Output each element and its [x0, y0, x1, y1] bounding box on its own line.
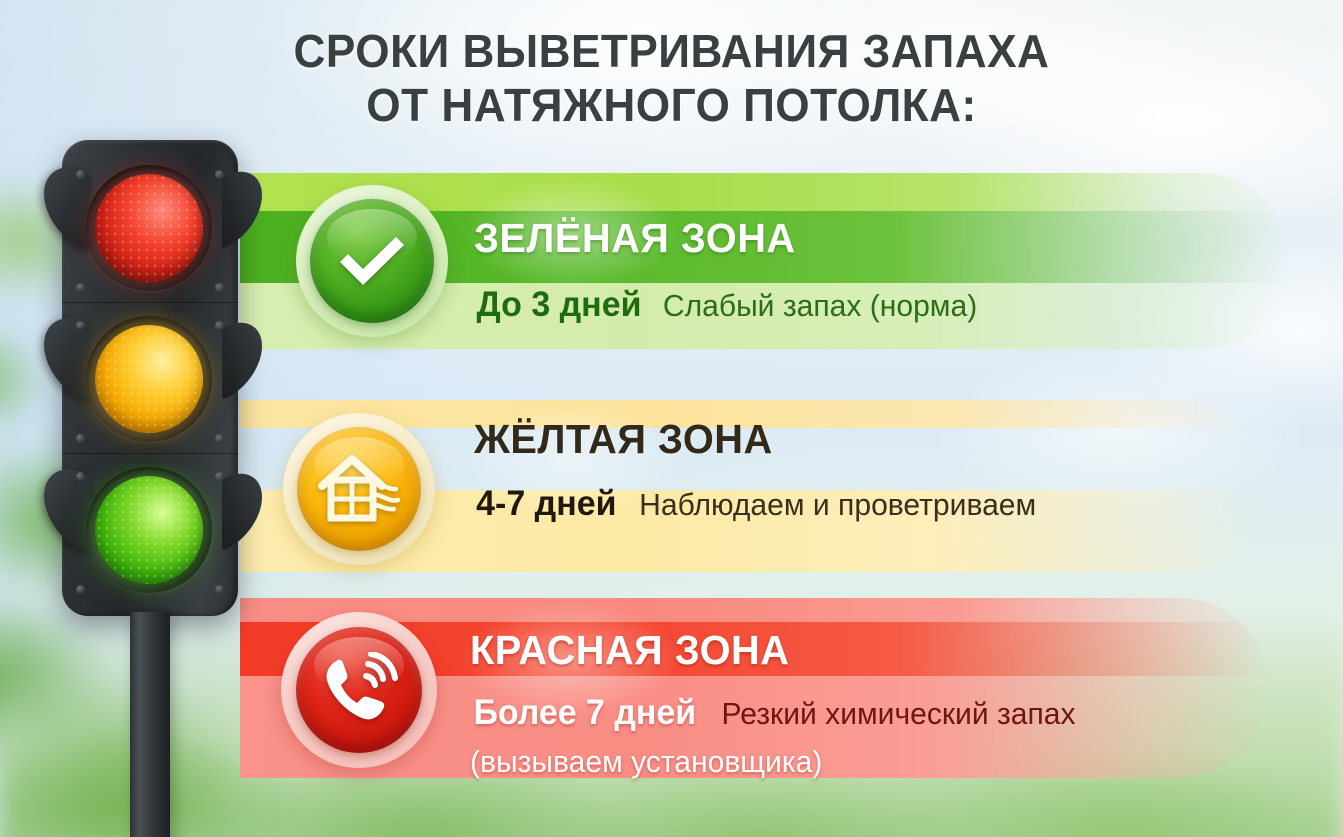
zone-icon-badge-red — [281, 612, 437, 768]
zone-detail-red: Более 7 днейРезкий химический запах — [470, 692, 1081, 741]
zone-days-red: Более 7 дней — [473, 692, 696, 734]
visor-yellow-icon — [44, 306, 90, 403]
screw-icon — [215, 472, 224, 481]
zone-title-red: КРАСНАЯ ЗОНА — [470, 628, 1062, 672]
green-lamp — [95, 476, 203, 584]
screw-icon — [215, 283, 224, 292]
screw-icon — [76, 472, 85, 481]
page-title-line-2: ОТ НАТЯЖНОГО ПОТОЛКА: — [27, 78, 1316, 132]
screw-icon — [76, 585, 85, 594]
traffic-light-cell-green — [62, 453, 238, 604]
badge-disc — [297, 427, 421, 551]
visor-red-icon — [44, 155, 90, 252]
zone-title-green: ЗЕЛЁНАЯ ЗОНА — [474, 216, 967, 260]
band-strip-top — [240, 598, 1270, 622]
zone-note-red: Резкий химический запах — [721, 693, 1075, 735]
screw-icon — [76, 170, 85, 179]
lamp-ring-red — [86, 165, 212, 291]
visor-green-icon — [44, 457, 90, 554]
screw-icon — [215, 321, 224, 330]
zone-note-green: Слабый запах (норма) — [663, 285, 977, 327]
lamp-ring-yellow — [86, 316, 212, 442]
traffic-light-cell-yellow — [62, 302, 238, 453]
yellow-lamp — [95, 325, 203, 433]
traffic-light-cell-red — [62, 152, 238, 302]
zone-text-green: ЗЕЛЁНАЯ ЗОНА До 3 днейСлабый запах (норм… — [474, 216, 982, 333]
zone-icon-badge-yellow — [283, 413, 435, 565]
screw-icon — [215, 170, 224, 179]
zone-title-yellow: ЖЁЛТАЯ ЗОНА — [474, 417, 1025, 461]
zone-text-yellow: ЖЁЛТАЯ ЗОНА 4-7 днейНаблюдаем и проветри… — [474, 417, 1042, 532]
page-title: СРОКИ ВЫВЕТРИВАНИЯ ЗАПАХА ОТ НАТЯЖНОГО П… — [0, 24, 1343, 132]
lamp-ring-green — [86, 467, 212, 593]
screw-icon — [215, 434, 224, 443]
zone-icon-badge-green — [296, 185, 448, 337]
traffic-light-graphic — [52, 140, 252, 616]
zone-detail-green: До 3 днейСлабый запах (норма) — [474, 284, 982, 333]
screw-icon — [215, 585, 224, 594]
infographic-canvas: СРОКИ ВЫВЕТРИВАНИЯ ЗАПАХА ОТ НАТЯЖНОГО П… — [0, 0, 1343, 837]
zone-days-yellow: 4-7 дней — [476, 483, 616, 525]
zone-days-green: До 3 дней — [477, 284, 642, 326]
zone-sub-red: (вызываем установщика) — [470, 743, 1062, 781]
screw-icon — [76, 434, 85, 443]
badge-disc — [310, 199, 434, 323]
traffic-light-housing — [62, 140, 238, 616]
red-lamp — [95, 174, 203, 282]
zone-text-red: КРАСНАЯ ЗОНА Более 7 днейРезкий химическ… — [470, 628, 1081, 781]
screw-icon — [76, 321, 85, 330]
badge-disc — [296, 627, 422, 753]
screw-icon — [76, 283, 85, 292]
zone-detail-yellow: 4-7 днейНаблюдаем и проветриваем — [474, 483, 1042, 532]
phone-call-icon — [318, 652, 400, 728]
check-icon — [334, 231, 410, 291]
traffic-light-pole — [130, 612, 170, 837]
page-title-line-1: СРОКИ ВЫВЕТРИВАНИЯ ЗАПАХА — [27, 24, 1316, 78]
zone-note-yellow: Наблюдаем и проветриваем — [639, 484, 1036, 526]
house-ventilation-icon — [316, 452, 402, 526]
